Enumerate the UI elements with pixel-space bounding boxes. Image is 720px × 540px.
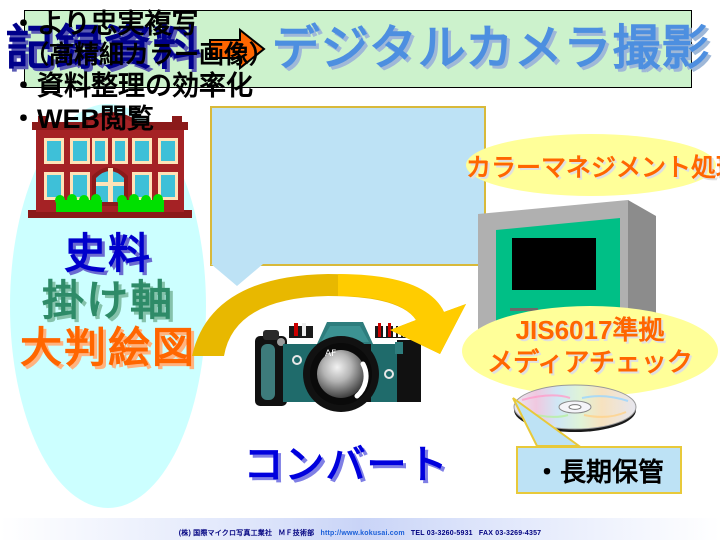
source-label-1: 掛け軸 (10, 277, 206, 324)
benefit-line-3: ・WEB閲覧 (10, 103, 714, 135)
source-label-0: 史料 (10, 230, 206, 277)
footer-company: (株) 国際マイクロ写真工業社 (179, 530, 272, 537)
footer-fax: FAX 03-3269-4357 (479, 530, 541, 537)
color-management-label: カラーマネジメント処理 (466, 148, 716, 184)
slide-canvas: 記録資料 デジタルカメラ撮影 (0, 0, 720, 540)
source-label-2: 大判絵図 (10, 324, 206, 371)
benefits-callout-text: ・より忠実複写 （高精細カラー画像） ・資料整理の効率化 ・WEB閲覧 (10, 8, 714, 135)
footer-tel: TEL 03-3260-5931 (411, 530, 473, 537)
footer-text: (株) 国際マイクロ写真工業社 ＭＦ技術部 http://www.kokusai… (0, 528, 720, 538)
media-check-line-2: メディアチェック (462, 347, 718, 379)
storage-callout-tail (505, 396, 625, 450)
media-check-label: JIS6017準拠 メディアチェック (462, 315, 718, 378)
storage-callout-text: ・長期保管 (516, 452, 682, 489)
benefit-line-1: （高精細カラー画像） (10, 40, 714, 70)
curved-arrow-icon (188, 268, 478, 358)
media-check-line-1: JIS6017準拠 (462, 315, 718, 347)
benefit-line-0: ・より忠実複写 (10, 8, 714, 40)
benefit-line-2: ・資料整理の効率化 (10, 70, 714, 102)
source-label-group: 史料 掛け軸 大判絵図 (10, 230, 206, 371)
footer-department: ＭＦ技術部 (278, 530, 314, 537)
footer-url[interactable]: http://www.kokusai.com (321, 530, 405, 537)
convert-label: コンバート (236, 432, 456, 490)
